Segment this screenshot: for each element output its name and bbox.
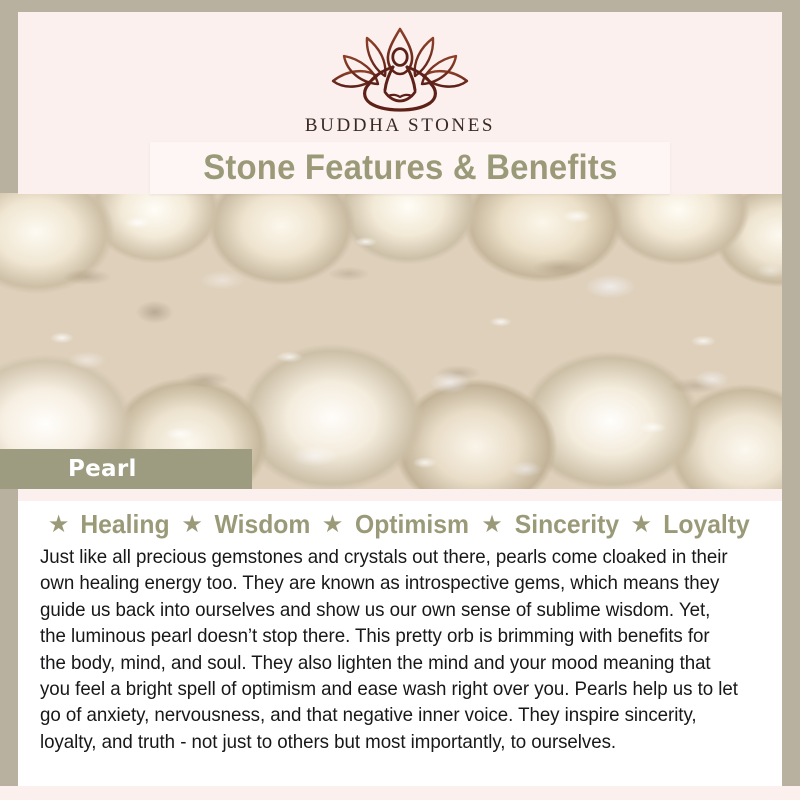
pearl-photo-image xyxy=(0,193,782,489)
description-paragraph: Just like all precious gemstones and cry… xyxy=(40,544,739,755)
panel-top-accent xyxy=(18,489,782,501)
benefit-item-wisdom: Wisdom xyxy=(214,509,310,540)
pearl-photo-layer-glint xyxy=(0,193,782,489)
brand-logo: BUDDHA STONES xyxy=(18,26,782,137)
benefit-item-sincerity: Sincerity xyxy=(514,509,618,540)
benefits-panel: ★ Healing ★ Wisdom ★ Optimism ★ Sincerit… xyxy=(18,489,782,786)
star-icon: ★ xyxy=(631,513,653,537)
benefits-list: ★ Healing ★ Wisdom ★ Optimism ★ Sincerit… xyxy=(18,509,782,540)
lotus-meditation-icon xyxy=(325,26,475,112)
star-icon: ★ xyxy=(48,513,70,537)
frame-edge-left-bottom xyxy=(0,489,18,800)
benefit-item-loyalty: Loyalty xyxy=(663,509,749,540)
frame-edge-left-top xyxy=(0,0,18,193)
frame-bottom-accent xyxy=(0,786,800,800)
star-icon: ★ xyxy=(322,513,344,537)
pearl-photo xyxy=(0,193,782,489)
frame-edge-right xyxy=(782,0,800,800)
star-icon: ★ xyxy=(181,513,203,537)
benefit-item-optimism: Optimism xyxy=(355,509,469,540)
benefit-item-healing: Healing xyxy=(81,509,170,540)
stone-name-label: Pearl xyxy=(68,456,137,482)
star-icon: ★ xyxy=(481,513,503,537)
page-title-band: Stone Features & Benefits xyxy=(150,142,670,194)
brand-wordmark: BUDDHA STONES xyxy=(305,115,495,137)
stone-name-bar: Pearl xyxy=(0,449,252,489)
page-title: Stone Features & Benefits xyxy=(203,148,617,188)
